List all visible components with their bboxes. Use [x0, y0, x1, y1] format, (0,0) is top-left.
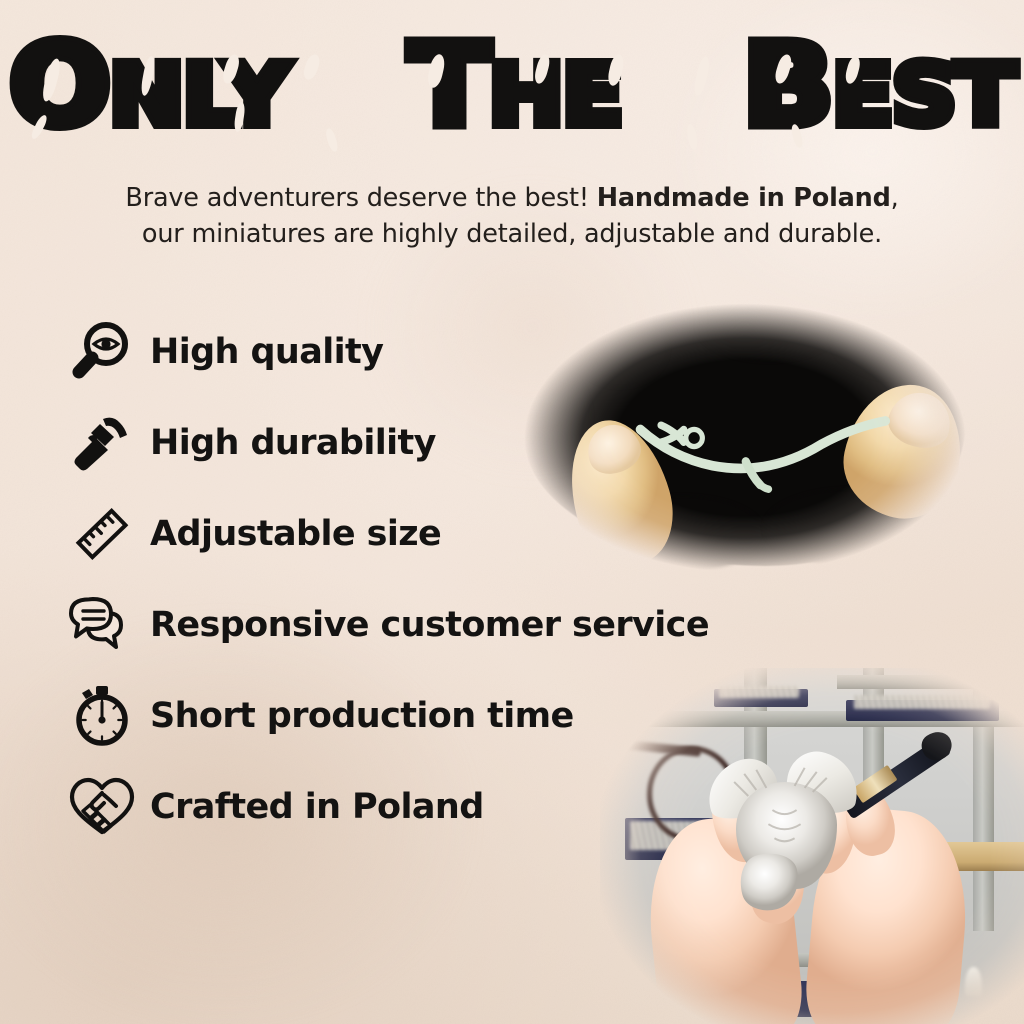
subtitle-bold-phrase: Handmade in Poland — [597, 183, 891, 213]
magnifier-eye-icon — [62, 314, 142, 390]
primed-miniature — [965, 967, 982, 995]
headline-area: ONLY THE BEST — [0, 32, 1024, 142]
feature-label-crafted-in-poland: Crafted in Poland — [150, 787, 484, 827]
handshake-heart-icon — [62, 769, 142, 845]
flexible-miniature-photo — [505, 278, 985, 598]
speech-bubbles-icon — [62, 587, 142, 663]
torn-edge-spray — [505, 348, 563, 431]
headline-word-2-first: T — [409, 21, 489, 151]
subtitle-line-1: Brave adventurers deserve the best! Hand… — [0, 180, 1024, 216]
ruler-icon — [62, 496, 142, 572]
subtitle-line-2: our miniatures are highly detailed, adju… — [0, 216, 1024, 252]
stopwatch-icon — [62, 678, 142, 754]
subtitle: Brave adventurers deserve the best! Hand… — [0, 180, 1024, 252]
feature-label-high-quality: High quality — [150, 332, 383, 372]
parts-in-tray — [854, 695, 990, 709]
headline-word-1-rest: NLY — [109, 46, 288, 144]
headline-gloss-6 — [301, 53, 322, 81]
torn-edge-spray — [918, 316, 985, 386]
dragon-detail-lines — [710, 753, 871, 895]
feature-label-customer-service: Responsive customer service — [150, 605, 709, 645]
shelf-beam-upper — [837, 675, 1024, 689]
mint-miniature-part — [630, 406, 899, 502]
feature-label-adjustable-size: Adjustable size — [150, 514, 441, 554]
torn-edge-spray — [553, 297, 620, 355]
headline-space-1 — [328, 21, 368, 151]
headline-word-1-first: O — [9, 21, 109, 151]
torn-edge-chunk — [697, 291, 841, 361]
infographic-canvas: ONLY THE BEST Brave adventurers d — [0, 0, 1024, 1024]
subtitle-lead: Brave adventurers deserve the best! — [125, 183, 588, 213]
torn-paper-flap — [600, 718, 651, 932]
workshop-painting-photo — [600, 668, 1024, 1024]
parts-in-tray — [719, 686, 800, 698]
feature-label-production-time: Short production time — [150, 696, 574, 736]
headline-word-3-rest: EST — [832, 46, 1015, 144]
page-title: ONLY THE BEST — [9, 32, 1014, 142]
subtitle-comma: , — [891, 183, 899, 213]
hammer-icon — [62, 405, 142, 481]
torn-edge-mask-bottom — [600, 668, 1024, 1024]
headline-word-3-first: B — [743, 21, 832, 151]
headline-word-2-rest: HE — [489, 46, 622, 144]
feature-label-high-durability: High durability — [150, 423, 436, 463]
torn-edge-mask-top — [505, 278, 985, 598]
headline-space-2 — [662, 21, 702, 151]
